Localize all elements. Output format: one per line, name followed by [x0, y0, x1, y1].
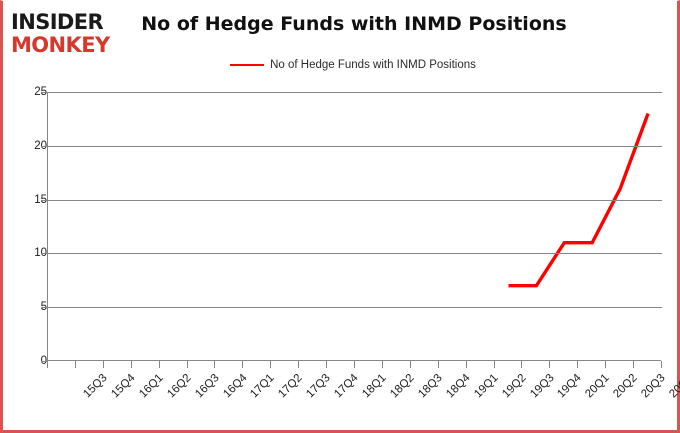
x-axis-tick-label: 20Q3 — [639, 372, 667, 400]
x-axis-tick-label: 20Q4 — [667, 372, 680, 400]
x-axis-tick-label: 16Q2 — [165, 372, 193, 400]
x-axis-tick-mark — [47, 361, 48, 368]
x-axis-tick-mark — [410, 361, 411, 368]
x-axis-tick-mark — [438, 361, 439, 368]
x-axis-tick-mark — [577, 361, 578, 368]
gridline — [48, 200, 662, 201]
gridline — [48, 92, 662, 93]
x-axis: 15Q315Q416Q116Q216Q316Q417Q117Q217Q317Q4… — [47, 361, 661, 431]
logo-line-monkey: MONKEY — [11, 34, 135, 57]
plot-area — [47, 92, 661, 361]
x-axis-tick-label: 16Q4 — [221, 372, 249, 400]
x-axis-tick-mark — [549, 361, 550, 368]
x-axis-tick-mark — [242, 361, 243, 368]
logo-line-insider: INSIDER — [11, 11, 135, 34]
x-axis-tick-label: 19Q2 — [500, 372, 528, 400]
chart-legend: No of Hedge Funds with INMD Positions — [153, 59, 553, 71]
x-axis-tick-label: 20Q2 — [611, 372, 639, 400]
x-axis-tick-mark — [633, 361, 634, 368]
x-axis-tick-mark — [159, 361, 160, 368]
x-axis-tick-mark — [382, 361, 383, 368]
x-axis-tick-mark — [354, 361, 355, 368]
x-axis-tick-label: 19Q3 — [528, 372, 556, 400]
x-axis-tick-mark — [103, 361, 104, 368]
x-axis-tick-label: 16Q3 — [193, 372, 221, 400]
gridline — [48, 253, 662, 254]
x-axis-tick-label: 17Q4 — [332, 372, 360, 400]
x-axis-tick-label: 15Q4 — [109, 372, 137, 400]
gridline — [48, 146, 662, 147]
x-axis-tick-label: 18Q2 — [388, 372, 416, 400]
x-axis-tick-mark — [131, 361, 132, 368]
x-axis-tick-mark — [605, 361, 606, 368]
x-axis-tick-mark — [270, 361, 271, 368]
x-axis-tick-mark — [494, 361, 495, 368]
x-axis-tick-label: 18Q4 — [444, 372, 472, 400]
x-axis-tick-mark — [298, 361, 299, 368]
x-axis-tick-label: 17Q2 — [277, 372, 305, 400]
gridline — [48, 307, 662, 308]
x-axis-tick-label: 20Q1 — [584, 372, 612, 400]
series-line-group — [48, 92, 662, 361]
x-axis-tick-label: 16Q1 — [137, 372, 165, 400]
x-axis-tick-mark — [521, 361, 522, 368]
x-axis-tick-mark — [661, 361, 662, 368]
chart-frame: INSIDER MONKEY No of Hedge Funds with IN… — [0, 0, 680, 433]
x-axis-tick-mark — [214, 361, 215, 368]
x-axis-tick-label: 17Q3 — [304, 372, 332, 400]
insider-monkey-logo: INSIDER MONKEY — [11, 11, 135, 59]
x-axis-tick-label: 18Q1 — [360, 372, 388, 400]
x-axis-tick-label: 15Q3 — [81, 372, 109, 400]
x-axis-tick-mark — [466, 361, 467, 368]
x-axis-tick-label: 19Q4 — [556, 372, 584, 400]
chart-title: No of Hedge Funds with INMD Positions — [135, 13, 573, 35]
legend-line-swatch-icon — [230, 64, 264, 66]
legend-entry-label: No of Hedge Funds with INMD Positions — [270, 59, 476, 71]
x-axis-tick-mark — [187, 361, 188, 368]
x-axis-tick-label: 19Q1 — [472, 372, 500, 400]
x-axis-tick-label: 18Q3 — [416, 372, 444, 400]
x-axis-tick-mark — [326, 361, 327, 368]
y-axis: 0510152025 — [3, 92, 47, 362]
x-axis-tick-mark — [75, 361, 76, 368]
x-axis-tick-label: 17Q1 — [249, 372, 277, 400]
